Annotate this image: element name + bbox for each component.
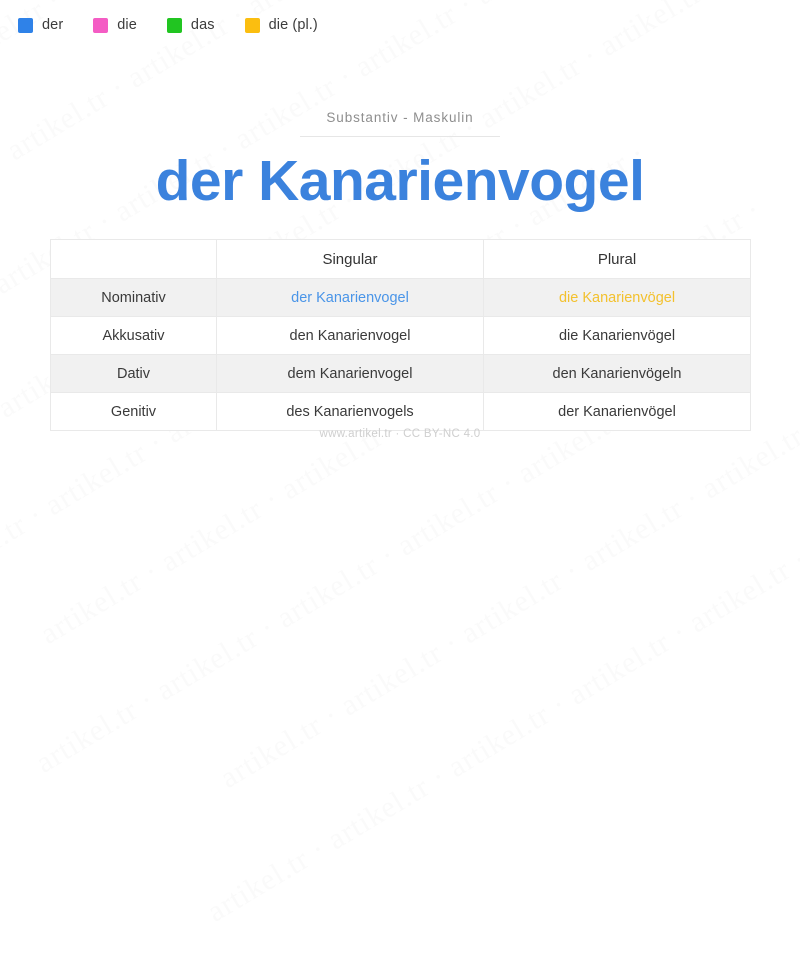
column-header-case <box>51 240 217 279</box>
plural-nominativ: die Kanarienvögel <box>484 279 751 317</box>
column-header-plural: Plural <box>484 240 751 279</box>
singular-dativ: dem Kanarienvogel <box>217 355 484 393</box>
case-label-genitiv: Genitiv <box>51 393 217 431</box>
color-swatch-icon-die <box>93 18 108 33</box>
singular-nominativ: der Kanarienvogel <box>217 279 484 317</box>
legend-label-der: der <box>42 17 63 33</box>
table-row: Genitiv des Kanarienvogels der Kanarienv… <box>51 393 751 431</box>
plural-dativ: den Kanarienvögeln <box>484 355 751 393</box>
color-swatch-icon-das <box>167 18 182 33</box>
plural-akkusativ: die Kanarienvögel <box>484 317 751 355</box>
legend-item-der: der <box>18 17 63 33</box>
legend-item-die: die <box>93 17 137 33</box>
table-row: Akkusativ den Kanarienvogel die Kanarien… <box>51 317 751 355</box>
noun-declension-card: der die das die (pl.) Substantiv - Masku… <box>0 0 800 533</box>
word-type-subtitle: Substantiv - Maskulin <box>0 110 800 125</box>
declension-table: Singular Plural Nominativ der Kanarienvo… <box>50 239 751 431</box>
article-color-legend: der die das die (pl.) <box>18 17 348 33</box>
legend-label-die-plural: die (pl.) <box>269 17 318 33</box>
singular-akkusativ: den Kanarienvogel <box>217 317 484 355</box>
case-label-nominativ: Nominativ <box>51 279 217 317</box>
footer-attribution: www.artikel.tr · CC BY-NC 4.0 <box>0 428 800 440</box>
page-title: der Kanarienvogel <box>0 148 800 215</box>
color-swatch-icon-der <box>18 18 33 33</box>
legend-item-die-plural: die (pl.) <box>245 17 318 33</box>
color-swatch-icon-die-plural <box>245 18 260 33</box>
table-row: Nominativ der Kanarienvogel die Kanarien… <box>51 279 751 317</box>
legend-item-das: das <box>167 17 215 33</box>
legend-label-das: das <box>191 17 215 33</box>
subtitle-divider <box>300 136 500 137</box>
case-label-dativ: Dativ <box>51 355 217 393</box>
plural-genitiv: der Kanarienvögel <box>484 393 751 431</box>
singular-genitiv: des Kanarienvogels <box>217 393 484 431</box>
case-label-akkusativ: Akkusativ <box>51 317 217 355</box>
column-header-singular: Singular <box>217 240 484 279</box>
table-row: Dativ dem Kanarienvogel den Kanarienvöge… <box>51 355 751 393</box>
table-header-row: Singular Plural <box>51 240 751 279</box>
legend-label-die: die <box>117 17 137 33</box>
